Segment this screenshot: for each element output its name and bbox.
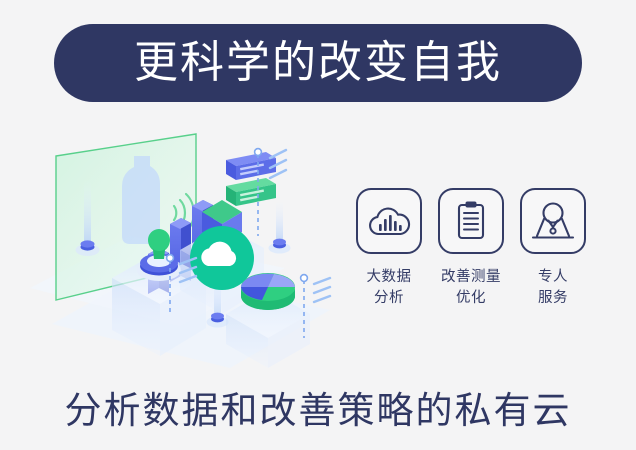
green-tag-label — [226, 178, 276, 206]
cloud-bar-chart-icon — [366, 201, 412, 241]
feature-label-line2: 分析 — [374, 290, 404, 306]
clipboard-icon-frame — [438, 188, 504, 254]
feature-label-line1: 大数据 — [367, 269, 412, 285]
feature-item-measurement[interactable]: 改善测量 优化 — [437, 188, 505, 328]
poster-stage: 更科学的改变自我 — [0, 0, 636, 450]
connector-node-a — [255, 149, 262, 156]
support-agent-icon-frame — [520, 188, 586, 254]
feature-label-big-data: 大数据 分析 — [354, 267, 424, 309]
feature-item-support[interactable]: 专人 服务 — [519, 188, 587, 328]
title-banner: 更科学的改变自我 — [54, 24, 582, 102]
feature-label-measurement: 改善测量 优化 — [436, 267, 506, 309]
feature-list: 大数据 分析 改善测量 优化 — [355, 188, 587, 328]
feature-label-line1: 改善测量 — [441, 269, 501, 285]
page-subtitle: 分析数据和改善策略的私有云 — [0, 380, 636, 434]
cloud-bar-chart-icon-frame — [356, 188, 422, 254]
illustration — [30, 118, 360, 368]
blue-tag-label — [226, 152, 276, 180]
pie-chart-3d — [241, 273, 295, 310]
feature-label-support: 专人 服务 — [518, 267, 588, 309]
feature-item-big-data[interactable]: 大数据 分析 — [355, 188, 423, 328]
page-title: 更科学的改变自我 — [134, 41, 502, 85]
clipboard-icon — [451, 199, 491, 243]
support-agent-icon — [530, 200, 576, 242]
feature-label-line2: 服务 — [538, 290, 568, 306]
feature-label-line1: 专人 — [538, 269, 568, 285]
hash-marks-c — [314, 278, 330, 302]
feature-label-line2: 优化 — [456, 290, 486, 306]
connector-node-c — [301, 275, 308, 282]
connector-node-b — [167, 255, 174, 262]
light-beam-right — [269, 200, 291, 254]
